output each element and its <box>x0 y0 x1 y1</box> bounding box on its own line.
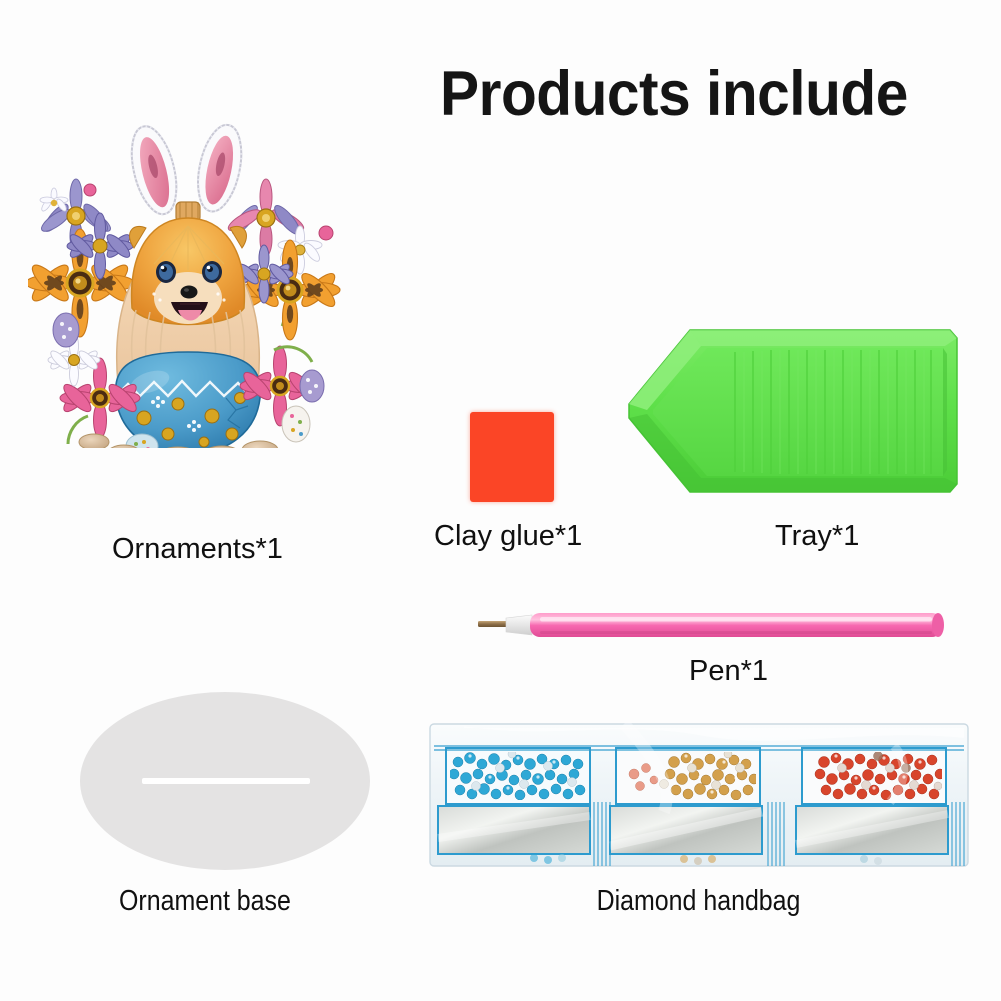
pen-label: Pen*1 <box>689 655 768 688</box>
bunny-ears-icon <box>124 121 249 222</box>
page-title: Products include <box>440 58 961 130</box>
easter-dog-ornament-icon <box>28 98 348 448</box>
compartment-gold <box>610 748 762 854</box>
ornament-base-product-image <box>80 692 370 870</box>
ornaments-product-image <box>28 98 348 448</box>
diamond-tray-icon <box>615 318 965 508</box>
diamond-handbag-label: Diamond handbag <box>597 885 801 918</box>
diamond-pen-icon <box>470 608 950 642</box>
clay-glue-product-image <box>470 412 554 502</box>
compartment-blue <box>438 748 590 854</box>
diamond-bag-icon <box>424 716 974 874</box>
product-includes-page: Products include <box>0 0 1001 1001</box>
clay-glue-label: Clay glue*1 <box>434 520 582 553</box>
base-slot <box>142 778 310 784</box>
tray-product-image <box>615 318 965 508</box>
ornaments-label: Ornaments*1 <box>112 533 283 566</box>
pen-product-image <box>470 608 950 642</box>
tray-label: Tray*1 <box>775 520 859 553</box>
diamond-handbag-product-image <box>424 716 974 874</box>
ornament-base-label: Ornament base <box>119 885 291 918</box>
compartment-red <box>796 748 948 854</box>
